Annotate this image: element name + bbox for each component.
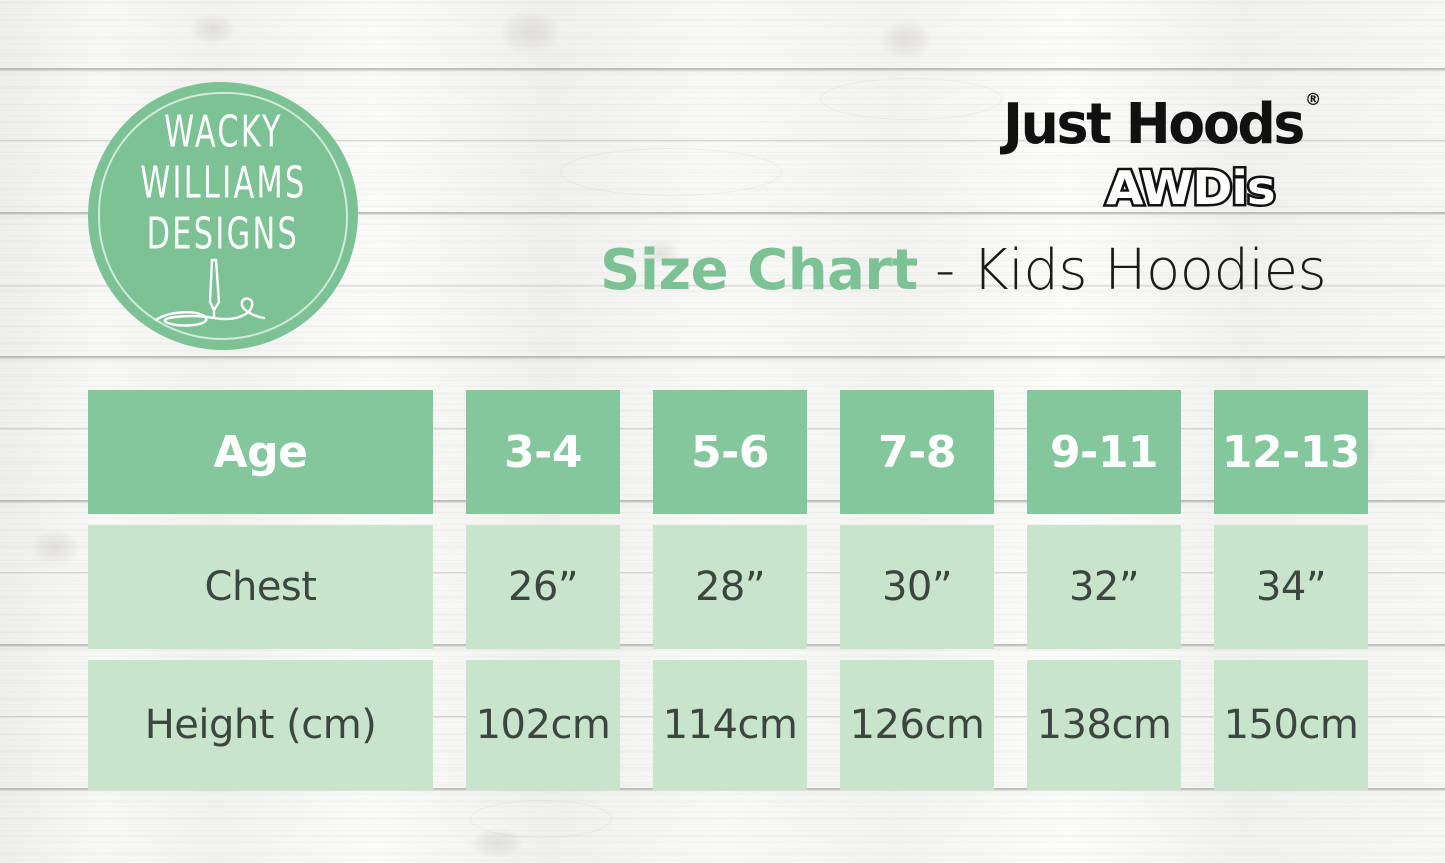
header-cell-5-6: 5-6 <box>653 390 807 514</box>
row-label-text: Chest <box>205 564 317 610</box>
cell-value: 26” <box>508 564 578 610</box>
wood-knot <box>190 14 236 44</box>
wood-knot <box>30 530 80 564</box>
cell-height-3-4: 102cm <box>466 660 620 790</box>
page-title: Size Chart - Kids Hoodies <box>600 238 1326 303</box>
size-chart-page: WACKY WILLIAMS DESIGNS Just Hoods® AWDis… <box>0 0 1445 863</box>
cell-chest-9-11: 32” <box>1027 525 1181 649</box>
header-label-12-13: 12-13 <box>1222 427 1360 478</box>
justhoods-logo[interactable]: Just Hoods® <box>1003 92 1319 157</box>
cell-value: 102cm <box>476 702 611 748</box>
plank-seam <box>0 356 1445 359</box>
cell-value: 126cm <box>850 702 985 748</box>
cell-height-7-8: 126cm <box>840 660 994 790</box>
cell-value: 30” <box>882 564 952 610</box>
row-label-chest: Chest <box>88 525 433 649</box>
cell-value: 138cm <box>1037 702 1172 748</box>
wood-grain <box>560 148 782 196</box>
justhoods-wordmark: Just Hoods <box>1003 92 1303 157</box>
cell-height-9-11: 138cm <box>1027 660 1181 790</box>
wacky-williams-logo[interactable]: WACKY WILLIAMS DESIGNS <box>88 82 358 350</box>
header-label-5-6: 5-6 <box>691 427 769 478</box>
page-title-rest: - Kids Hoodies <box>918 238 1326 303</box>
header-cell-age: Age <box>88 390 433 514</box>
header-label-age: Age <box>214 427 308 478</box>
row-label-height: Height (cm) <box>88 660 433 790</box>
page-title-highlight: Size Chart <box>600 238 918 303</box>
wood-grain <box>820 78 1002 120</box>
registered-trademark-icon: ® <box>1305 90 1321 110</box>
header-cell-9-11: 9-11 <box>1027 390 1181 514</box>
size-chart-table: Age 3-4 5-6 7-8 9-11 12-13 Chest 26 <box>88 390 1358 790</box>
wood-knot <box>500 10 560 54</box>
wood-grain <box>470 800 612 838</box>
header-label-3-4: 3-4 <box>504 427 582 478</box>
plank-seam <box>0 68 1445 71</box>
cell-chest-3-4: 26” <box>466 525 620 649</box>
table-header-row: Age 3-4 5-6 7-8 9-11 12-13 <box>88 390 1358 514</box>
header-label-7-8: 7-8 <box>878 427 956 478</box>
logo-line-3: DESIGNS <box>147 210 299 259</box>
cell-height-5-6: 114cm <box>653 660 807 790</box>
table-row-chest: Chest 26” 28” 30” 32” 34” <box>88 525 1358 649</box>
cell-value: 32” <box>1069 564 1139 610</box>
pen-flourish-icon <box>140 258 310 334</box>
cell-chest-12-13: 34” <box>1214 525 1368 649</box>
cell-value: 150cm <box>1224 702 1359 748</box>
awdis-logo[interactable]: AWDis <box>1106 161 1275 215</box>
logo-line-1: WACKY <box>164 108 283 157</box>
header-label-9-11: 9-11 <box>1050 427 1158 478</box>
row-label-text: Height (cm) <box>145 702 377 748</box>
cell-chest-7-8: 30” <box>840 525 994 649</box>
wood-knot <box>880 20 932 60</box>
table-row-height: Height (cm) 102cm 114cm 126cm 138cm 150c… <box>88 660 1358 790</box>
cell-chest-5-6: 28” <box>653 525 807 649</box>
header-cell-3-4: 3-4 <box>466 390 620 514</box>
cell-height-12-13: 150cm <box>1214 660 1368 790</box>
logo-line-2: WILLIAMS <box>140 159 306 208</box>
cell-value: 34” <box>1256 564 1326 610</box>
header-cell-12-13: 12-13 <box>1214 390 1368 514</box>
cell-value: 28” <box>695 564 765 610</box>
header-cell-7-8: 7-8 <box>840 390 994 514</box>
cell-value: 114cm <box>663 702 798 748</box>
